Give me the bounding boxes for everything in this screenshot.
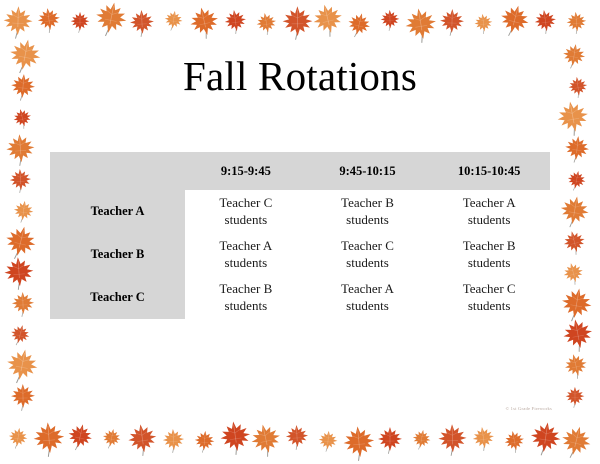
maple-leaf-icon	[8, 383, 36, 411]
maple-leaf-icon	[0, 221, 42, 263]
maple-leaf-icon	[435, 423, 469, 457]
maple-leaf-icon	[69, 11, 91, 33]
cell-line-1: Teacher C	[428, 281, 550, 298]
maple-leaf-icon	[1, 345, 43, 387]
maple-leaf-icon	[379, 8, 402, 31]
maple-leaf-icon	[559, 259, 587, 287]
cell-line-2: students	[307, 255, 429, 272]
cell-line-2: students	[185, 212, 307, 229]
maple-leaf-icon	[279, 5, 314, 40]
cell-r1-c2: Teacher B students	[428, 233, 550, 276]
maple-leaf-icon	[9, 291, 36, 318]
maple-leaf-icon	[0, 4, 35, 39]
maple-leaf-icon	[6, 322, 33, 349]
maple-leaf-icon	[409, 427, 433, 451]
maple-leaf-icon	[1, 255, 37, 291]
maple-leaf-icon	[30, 420, 69, 459]
cell-r0-c0: Teacher C students	[185, 190, 307, 233]
maple-leaf-icon	[564, 10, 589, 35]
table-row: Teacher C Teacher B students Teacher A s…	[50, 276, 550, 319]
maple-leaf-icon	[63, 421, 97, 455]
column-header-2: 9:45-10:15	[307, 152, 429, 190]
page-title: Fall Rotations	[0, 52, 600, 100]
maple-leaf-icon	[127, 8, 156, 37]
maple-leaf-icon	[469, 424, 497, 452]
cell-line-1: Teacher A	[307, 281, 429, 298]
cell-line-1: Teacher C	[307, 238, 429, 255]
maple-leaf-icon	[564, 386, 586, 408]
cell-line-1: Teacher C	[185, 195, 307, 212]
cell-line-1: Teacher B	[428, 238, 550, 255]
cell-line-2: students	[185, 255, 307, 272]
cell-line-2: students	[428, 255, 550, 272]
maple-leaf-icon	[123, 421, 160, 458]
rotation-schedule-table: 9:15-9:45 9:45-10:15 10:15-10:45 Teacher…	[50, 152, 550, 319]
cell-line-2: students	[428, 298, 550, 315]
cell-r1-c0: Teacher A students	[185, 233, 307, 276]
maple-leaf-icon	[316, 429, 340, 453]
maple-leaf-icon	[343, 9, 375, 41]
maple-leaf-icon	[525, 419, 565, 459]
cell-r1-c1: Teacher C students	[307, 233, 429, 276]
maple-leaf-icon	[246, 419, 286, 459]
maple-leaf-icon	[438, 7, 467, 36]
maple-leaf-icon	[10, 198, 36, 224]
cell-r0-c1: Teacher B students	[307, 190, 429, 233]
cell-line-2: students	[428, 212, 550, 229]
maple-leaf-icon	[552, 97, 594, 139]
maple-leaf-icon	[253, 10, 280, 37]
maple-leaf-icon	[184, 3, 223, 42]
cell-line-1: Teacher B	[307, 195, 429, 212]
row-label-teacher-c: Teacher C	[50, 276, 185, 319]
table-header-row: 9:15-9:45 9:45-10:15 10:15-10:45	[50, 152, 550, 190]
row-label-teacher-b: Teacher B	[50, 233, 185, 276]
maple-leaf-icon	[221, 8, 249, 36]
cell-r0-c2: Teacher A students	[428, 190, 550, 233]
table-corner-cell	[50, 152, 185, 190]
maple-leaf-icon	[3, 131, 38, 166]
worksheet-page: Fall Rotations 9:15-9:45 9:45-10:15 10:1…	[0, 0, 600, 464]
maple-leaf-icon	[99, 426, 124, 451]
column-header-1: 9:15-9:45	[185, 152, 307, 190]
maple-leaf-icon	[283, 424, 310, 451]
maple-leaf-icon	[565, 168, 590, 193]
row-label-teacher-a: Teacher A	[50, 190, 185, 233]
maple-leaf-icon	[471, 11, 494, 34]
maple-leaf-icon	[400, 4, 441, 45]
maple-leaf-icon	[555, 422, 596, 463]
maple-leaf-icon	[501, 428, 528, 455]
maple-leaf-icon	[192, 429, 217, 454]
cell-r2-c2: Teacher C students	[428, 276, 550, 319]
cell-r2-c0: Teacher B students	[185, 276, 307, 319]
maple-leaf-icon	[339, 423, 378, 462]
maple-leaf-icon	[558, 315, 598, 355]
column-header-3: 10:15-10:45	[428, 152, 550, 190]
maple-leaf-icon	[494, 0, 534, 40]
credit-text: © 1st Grade Fireworks	[506, 406, 552, 411]
maple-leaf-icon	[556, 284, 597, 325]
maple-leaf-icon	[161, 9, 185, 33]
maple-leaf-icon	[531, 8, 559, 36]
maple-leaf-icon	[559, 227, 589, 257]
maple-leaf-icon	[555, 192, 593, 230]
maple-leaf-icon	[10, 105, 36, 131]
table-row: Teacher A Teacher C students Teacher B s…	[50, 190, 550, 233]
cell-line-2: students	[185, 298, 307, 315]
maple-leaf-icon	[215, 418, 255, 458]
maple-leaf-icon	[308, 0, 349, 41]
maple-leaf-icon	[376, 426, 404, 454]
table-row: Teacher B Teacher A students Teacher C s…	[50, 233, 550, 276]
maple-leaf-icon	[6, 425, 31, 450]
maple-leaf-icon	[34, 5, 63, 34]
cell-line-1: Teacher A	[428, 195, 550, 212]
maple-leaf-icon	[90, 0, 132, 41]
cell-line-1: Teacher A	[185, 238, 307, 255]
cell-r2-c1: Teacher A students	[307, 276, 429, 319]
maple-leaf-icon	[160, 427, 186, 453]
maple-leaf-icon	[7, 167, 33, 193]
maple-leaf-icon	[560, 350, 591, 381]
cell-line-2: students	[307, 212, 429, 229]
maple-leaf-icon	[562, 134, 593, 165]
cell-line-1: Teacher B	[185, 281, 307, 298]
cell-line-2: students	[307, 298, 429, 315]
